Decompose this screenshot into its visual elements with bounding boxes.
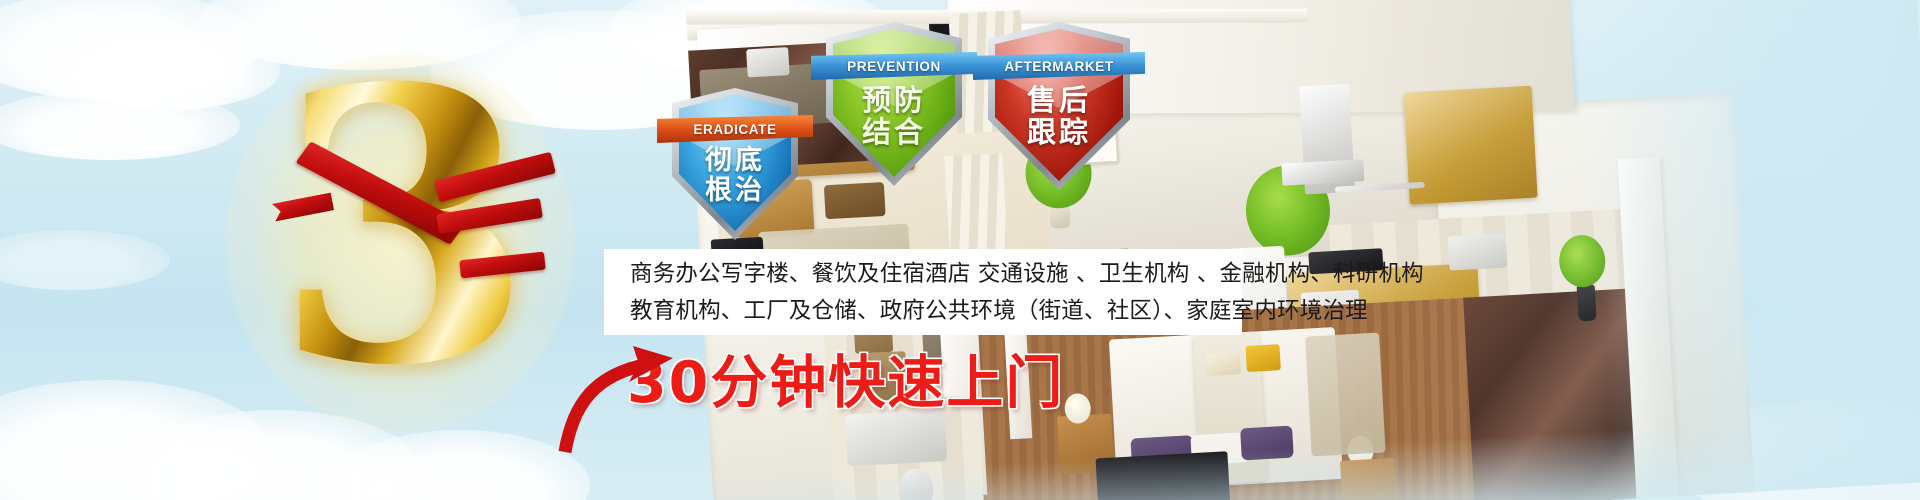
shield-chinese-label: 预防 结合 (826, 84, 962, 148)
folded-towels (1206, 352, 1241, 376)
range-hood-duct (1281, 159, 1364, 186)
shield-chinese-line-2: 跟踪 (988, 116, 1130, 148)
service-scope-box: 商务办公写字楼、餐饮及住宿酒店 交通设施 、卫生机构 、金融机构、科研机构 教育… (604, 249, 1242, 335)
red-curved-arrow (555, 340, 685, 460)
shield-chinese-line-2: 根治 (672, 176, 798, 206)
service-scope-line-1: 商务办公写字楼、餐饮及住宿酒店 交通设施 、卫生机构 、金融机构、科研机构 (604, 256, 1242, 293)
hero-number-glyph: 3 (255, 78, 545, 408)
service-scope-line-2: 教育机构、工厂及仓储、政府公共环境（街道、社区）、家庭室内环境治理 (604, 293, 1242, 330)
cloud-shape (60, 30, 280, 110)
sink (1448, 233, 1508, 270)
cloud-shape (0, 380, 270, 500)
cloud-shape (0, 230, 170, 290)
yellow-cushion (1245, 344, 1280, 372)
side-table (824, 182, 886, 219)
monitor (746, 47, 789, 77)
shield-chinese-line-1: 预防 (826, 84, 962, 116)
shield-chinese-line-1: 售后 (988, 84, 1130, 116)
bed-rug (1305, 333, 1386, 457)
hero-number-3: 3 (255, 78, 545, 408)
shield-chinese-label: 彻底 根治 (672, 146, 798, 206)
headline-text: 30分钟快速上门 (627, 352, 1064, 414)
promo-banner: 3 彻底 根治 ERADICATE 预防 结合 PREVENTION 售后 (0, 0, 1920, 500)
plant-pot (1577, 284, 1597, 321)
shield-chinese-line-1: 彻底 (672, 146, 798, 176)
shield-badge-aftermarket: 售后 跟踪 AFTERMARKET (988, 22, 1130, 190)
cloud-shape (0, 90, 240, 160)
shield-badge-prevention: 预防 结合 PREVENTION (826, 22, 962, 186)
cloud-shape (0, 0, 260, 100)
shield-chinese-line-2: 结合 (826, 116, 962, 148)
shield-chinese-label: 售后 跟踪 (988, 84, 1130, 148)
bathtub (845, 409, 948, 467)
shield-badge-eradicate: 彻底 根治 ERADICATE (672, 88, 798, 240)
